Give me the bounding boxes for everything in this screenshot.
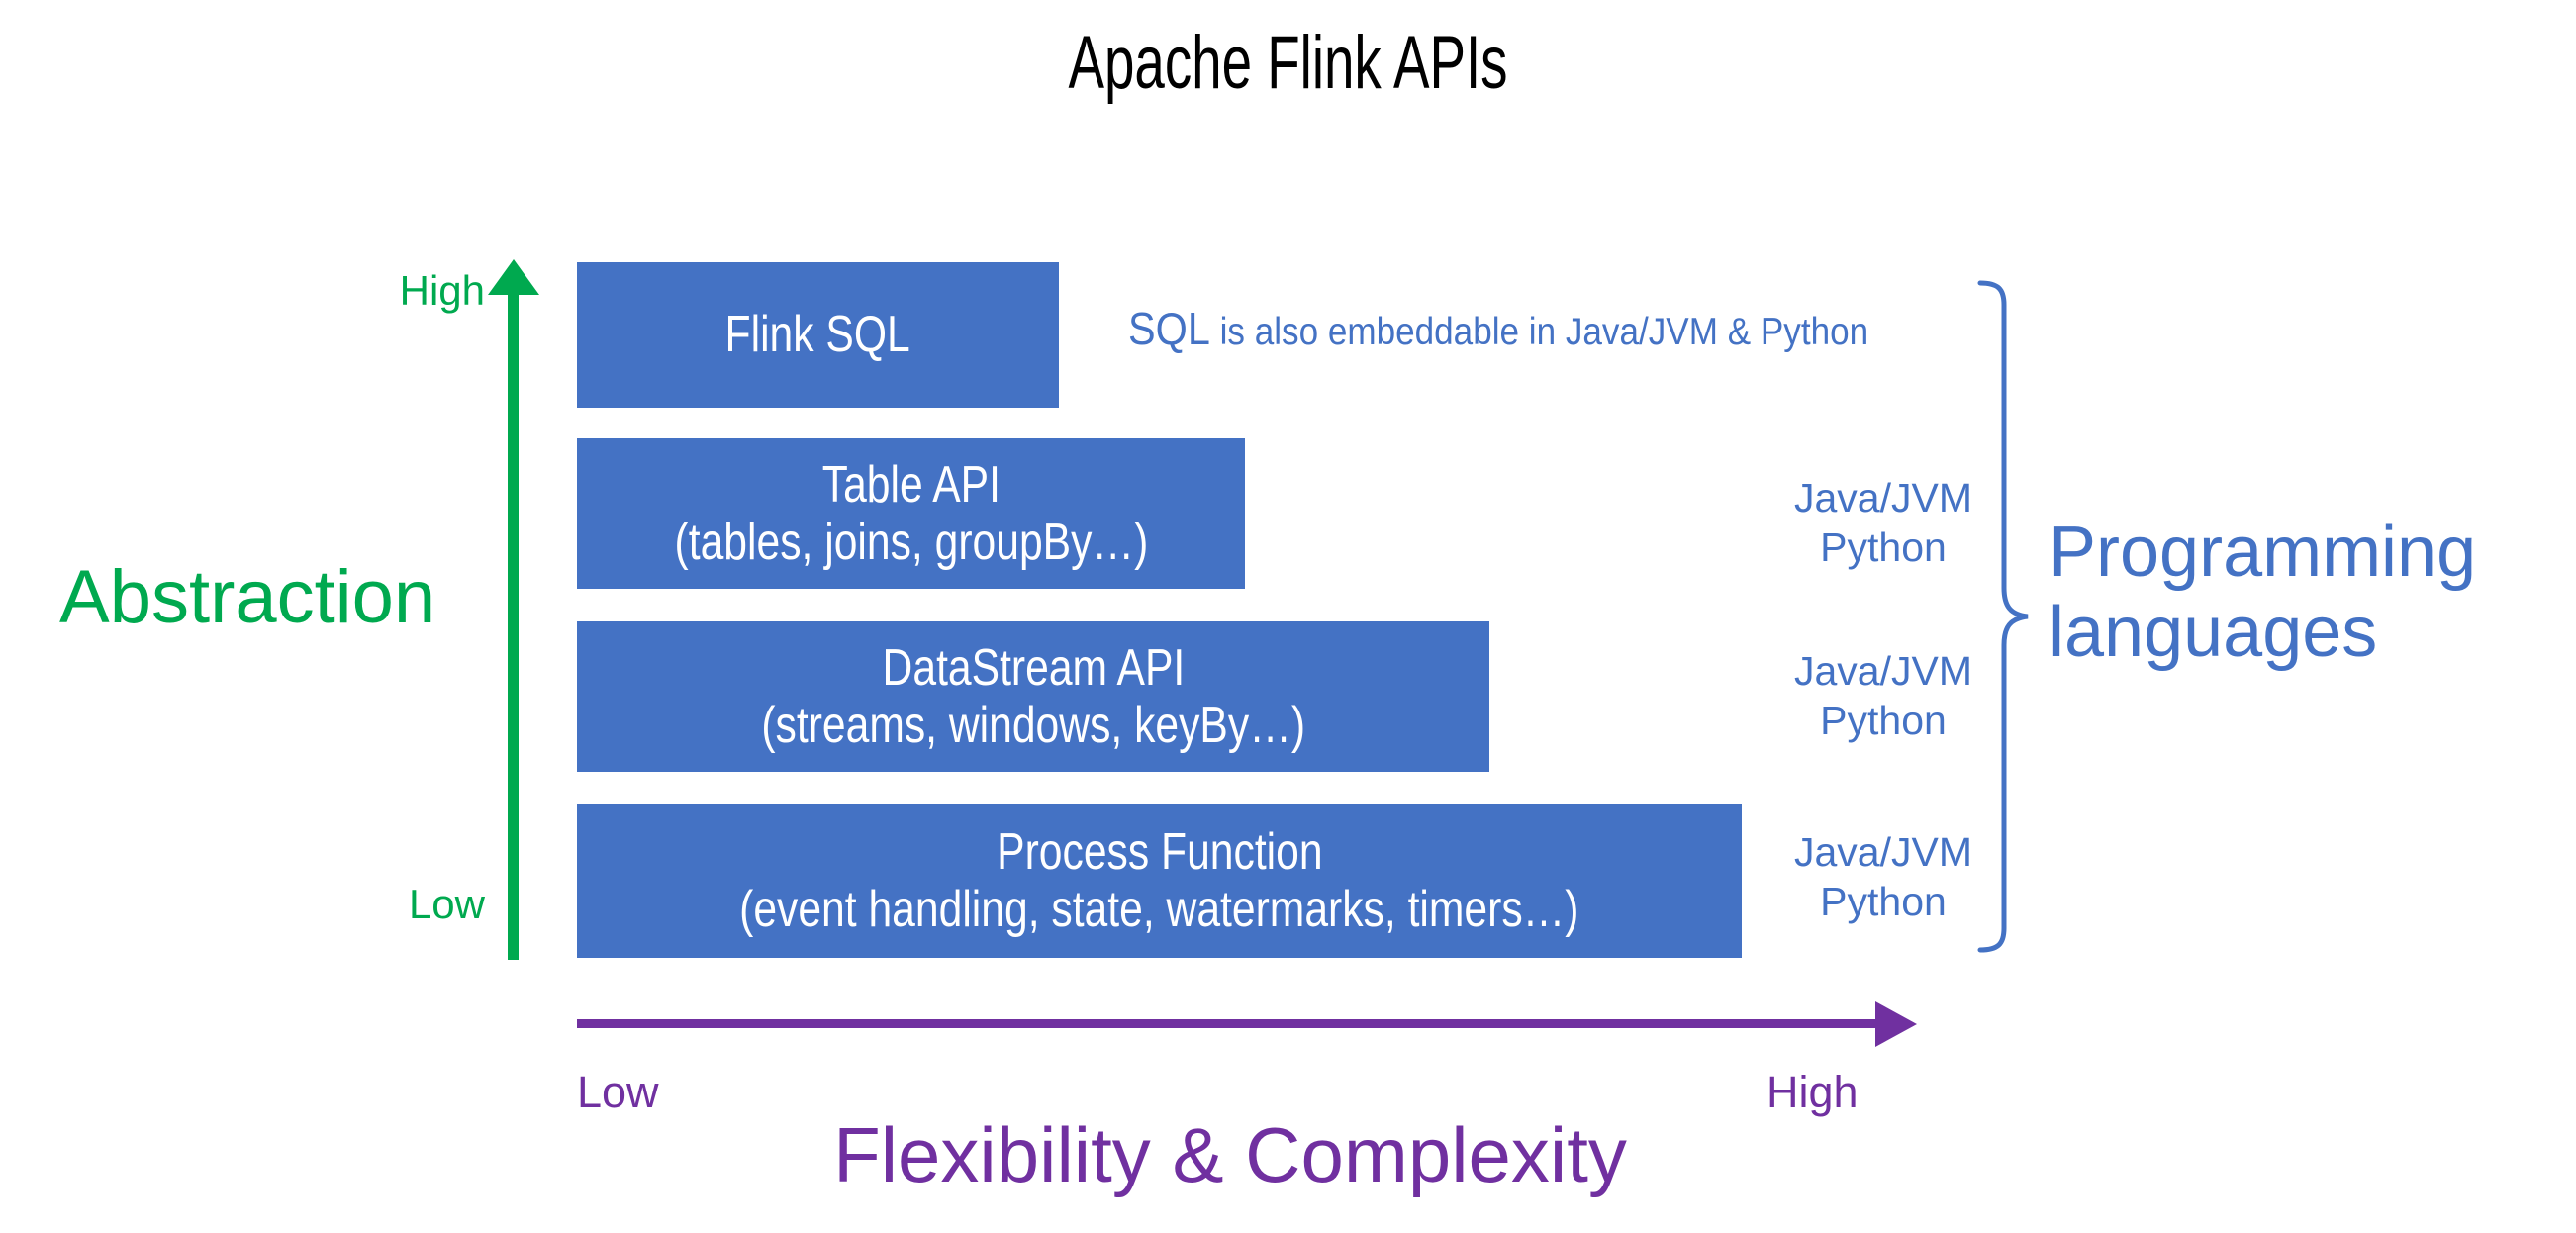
bar-datastream-api[interactable]: DataStream API (streams, windows, keyBy…… (577, 621, 1489, 772)
bar-label-primary: Flink SQL (725, 306, 910, 363)
bar-table-api[interactable]: Table API (tables, joins, groupBy…) (577, 438, 1245, 589)
bar-label-primary: Process Function (997, 823, 1322, 881)
curly-brace-icon (1974, 279, 2034, 954)
bar-flink-sql[interactable]: Flink SQL (577, 262, 1059, 408)
bar-label-secondary: (event handling, state, watermarks, time… (739, 881, 1578, 938)
x-axis-line (577, 1019, 1883, 1028)
bar-label-primary: Table API (821, 456, 1000, 514)
programming-languages-label: Programming languages (2049, 513, 2573, 674)
y-axis-line (508, 287, 519, 960)
bar-label-secondary: (streams, windows, keyBy…) (761, 697, 1305, 754)
bar-process-function[interactable]: Process Function (event handling, state,… (577, 804, 1742, 958)
y-axis-title: Abstraction (59, 554, 435, 640)
bar-label-primary: DataStream API (882, 639, 1185, 697)
sql-embeddable-note: SQL is also embeddable in Java/JVM & Pyt… (1128, 302, 1868, 355)
brace-label-line2: languages (2049, 593, 2573, 673)
y-axis-high-label: High (327, 267, 485, 315)
x-axis-title: Flexibility & Complexity (577, 1110, 1883, 1200)
page-title: Apache Flink APIs (360, 20, 2215, 106)
y-axis-low-label: Low (327, 881, 485, 928)
sql-note-emphasis: SQL (1128, 303, 1210, 354)
x-axis-arrowhead-icon (1875, 1001, 1917, 1047)
brace-label-line1: Programming (2049, 513, 2573, 593)
bar-label-secondary: (tables, joins, groupBy…) (674, 514, 1148, 571)
slide-canvas: Apache Flink APIs High Low Abstraction F… (0, 0, 2576, 1233)
sql-note-rest: is also embeddable in Java/JVM & Python (1210, 311, 1868, 353)
